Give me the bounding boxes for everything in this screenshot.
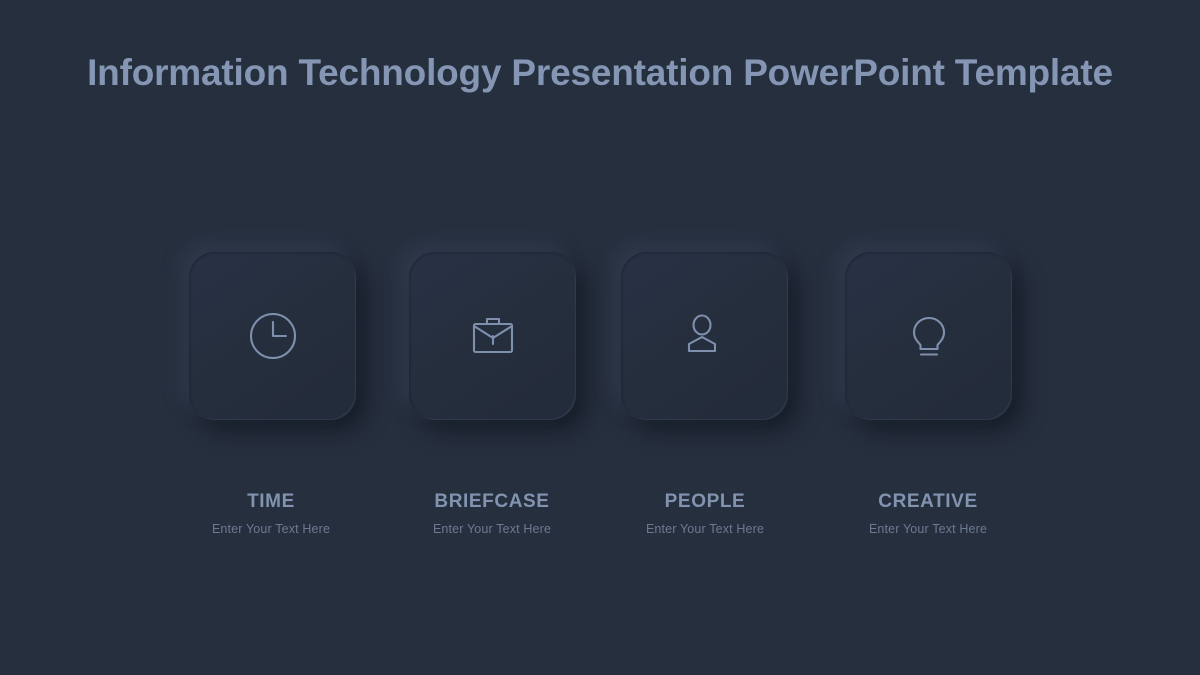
presentation-slide: Information Technology Presentation Powe… [0, 0, 1200, 675]
feature-card-row [0, 252, 1200, 424]
page-title: Information Technology Presentation Powe… [0, 52, 1200, 94]
feature-card-time[interactable] [189, 252, 356, 420]
briefcase-icon [409, 252, 576, 420]
feature-card-creative[interactable] [845, 252, 1012, 420]
clock-icon [189, 252, 356, 420]
lightbulb-icon [845, 252, 1012, 420]
caption-creative: CREATIVE Enter Your Text Here [798, 491, 1058, 537]
caption-description-creative: Enter Your Text Here [798, 522, 1058, 537]
caption-title-people: PEOPLE [575, 491, 835, 513]
caption-description-people: Enter Your Text Here [575, 522, 835, 537]
caption-title-creative: CREATIVE [798, 491, 1058, 513]
feature-card-people[interactable] [621, 252, 788, 420]
person-icon [621, 252, 788, 420]
feature-card-briefcase[interactable] [409, 252, 576, 420]
caption-people: PEOPLE Enter Your Text Here [575, 491, 835, 537]
